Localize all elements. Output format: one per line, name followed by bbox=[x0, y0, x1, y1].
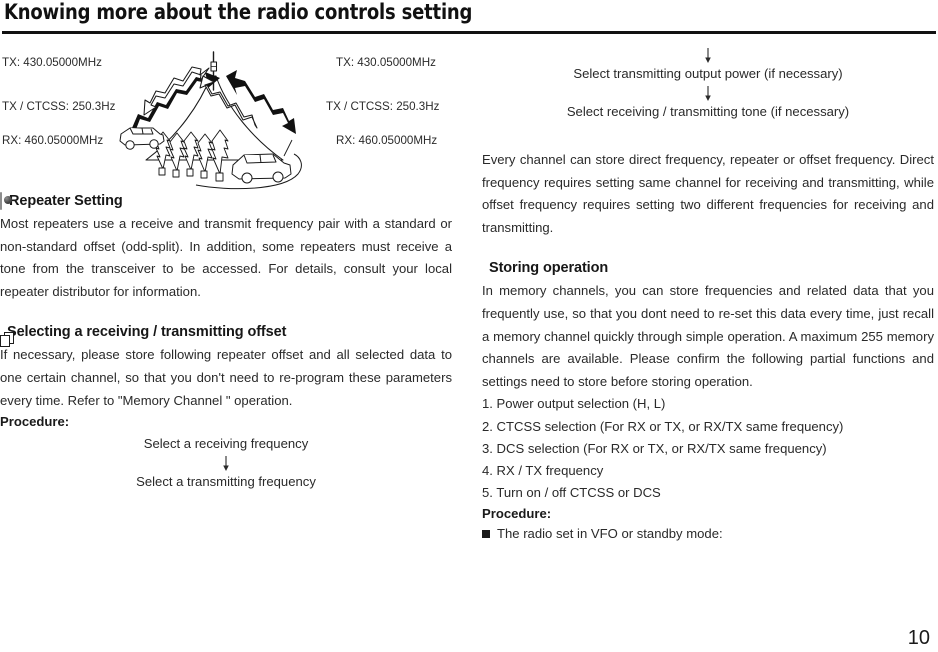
repeater-setting-heading-text: Repeater Setting bbox=[9, 192, 123, 210]
figure-right-ctcss-label: TX / CTCSS: 250.3Hz bbox=[326, 100, 439, 114]
black-square-bullet-icon bbox=[482, 530, 490, 538]
flow-step-output-power: Select transmitting output power (if nec… bbox=[482, 63, 934, 85]
down-arrow-icon bbox=[0, 455, 452, 471]
list-item: 4. RX / TX frequency bbox=[482, 460, 934, 482]
repeater-coverage-figure: TX: 430.05000MHz TX / CTCSS: 250.3Hz RX:… bbox=[0, 44, 452, 192]
list-item: 2. CTCSS selection (For RX or TX, or RX/… bbox=[482, 416, 934, 438]
figure-left-rx-label: RX: 460.05000MHz bbox=[2, 134, 103, 148]
spacer bbox=[482, 239, 934, 259]
storing-operation-section: Storing operation In memory channels, yo… bbox=[482, 259, 934, 545]
vfo-standby-mode-bullet: The radio set in VFO or standby mode: bbox=[482, 523, 934, 545]
selecting-offset-heading: Selecting a receiving / transmitting off… bbox=[0, 323, 452, 341]
list-item: 3. DCS selection (For RX or TX, or RX/TX… bbox=[482, 438, 934, 460]
selecting-offset-paragraph: If necessary, please store following rep… bbox=[0, 344, 452, 412]
list-item: 1. Power output selection (H, L) bbox=[482, 393, 934, 415]
spacer bbox=[0, 303, 452, 323]
list-item: 5. Turn on / off CTCSS or DCS bbox=[482, 482, 934, 504]
storing-requirements-list: 1. Power output selection (H, L) 2. CTCS… bbox=[482, 393, 934, 504]
repeater-setting-paragraph: Most repeaters use a receive and transmi… bbox=[0, 213, 452, 303]
page-number: 10 bbox=[908, 626, 930, 650]
left-procedure-flow: Select a receiving frequency Select a tr… bbox=[0, 433, 452, 493]
right-procedure-flow: Select transmitting output power (if nec… bbox=[482, 47, 934, 123]
vfo-standby-mode-text: The radio set in VFO or standby mode: bbox=[497, 523, 723, 545]
mountain-repeater-diagram-icon bbox=[108, 44, 323, 192]
document-page: Knowing more about the radio controls se… bbox=[0, 0, 938, 652]
flow-step-transmitting-frequency: Select a transmitting frequency bbox=[0, 471, 452, 493]
storing-operation-heading: Storing operation bbox=[482, 259, 934, 277]
repeater-setting-heading: Repeater Setting bbox=[0, 192, 452, 210]
flow-step-tone: Select receiving / transmitting tone (if… bbox=[482, 101, 934, 123]
flow-step-receiving-frequency: Select a receiving frequency bbox=[0, 433, 452, 455]
storing-operation-heading-text: Storing operation bbox=[489, 259, 608, 277]
spacer bbox=[482, 123, 934, 149]
left-column: TX: 430.05000MHz TX / CTCSS: 250.3Hz RX:… bbox=[0, 44, 452, 493]
right-procedure-label: Procedure: bbox=[482, 504, 934, 523]
storing-operation-paragraph: In memory channels, you can store freque… bbox=[482, 280, 934, 393]
figure-left-tx-label: TX: 430.05000MHz bbox=[2, 56, 102, 70]
down-arrow-icon bbox=[482, 47, 934, 63]
right-column: Select transmitting output power (if nec… bbox=[482, 44, 934, 545]
channel-storage-paragraph: Every channel can store direct frequency… bbox=[482, 149, 934, 239]
figure-left-ctcss-label: TX / CTCSS: 250.3Hz bbox=[2, 100, 115, 114]
title-divider bbox=[2, 31, 936, 34]
left-procedure-label: Procedure: bbox=[0, 412, 452, 431]
page-title: Knowing more about the radio controls se… bbox=[4, 0, 472, 26]
selecting-offset-heading-text: Selecting a receiving / transmitting off… bbox=[7, 323, 286, 341]
down-arrow-icon bbox=[482, 85, 934, 101]
figure-right-tx-label: TX: 430.05000MHz bbox=[336, 56, 436, 70]
selecting-offset-section: Selecting a receiving / transmitting off… bbox=[0, 323, 452, 493]
repeater-setting-section: Repeater Setting Most repeaters use a re… bbox=[0, 192, 452, 303]
figure-right-rx-label: RX: 460.05000MHz bbox=[336, 134, 437, 148]
